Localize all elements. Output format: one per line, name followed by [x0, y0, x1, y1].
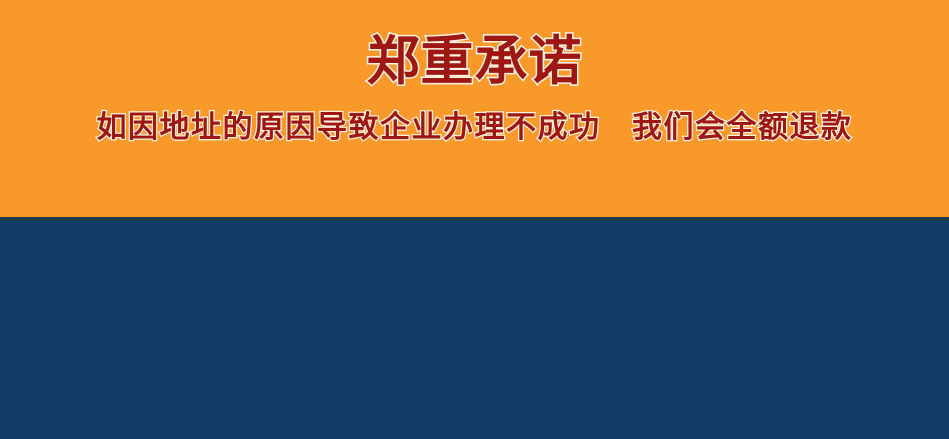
- services-panel: 全程专业一对一服务 专业服务明码标价 提供包过服务 无忧注册: [0, 221, 949, 439]
- promise-subtitle: 如因地址的原因导致企业办理不成功 我们会全额退款: [0, 108, 949, 148]
- promise-title: 郑重承诺: [0, 31, 949, 93]
- promise-panel: 郑重承诺 如因地址的原因导致企业办理不成功 我们会全额退款: [0, 0, 949, 217]
- promotional-banner: 郑重承诺 如因地址的原因导致企业办理不成功 我们会全额退款 全程专业一对一服务 …: [0, 0, 949, 439]
